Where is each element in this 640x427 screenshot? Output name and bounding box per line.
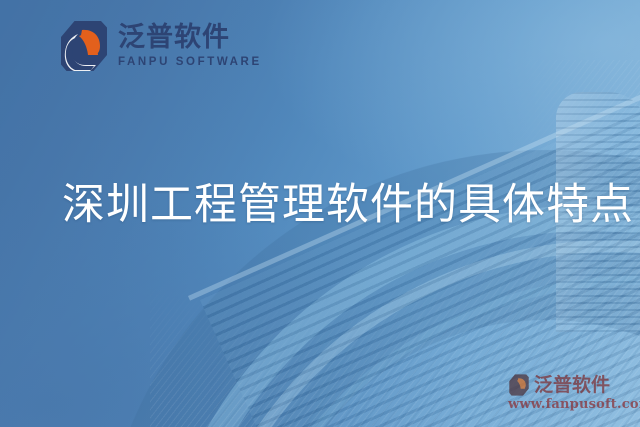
- promo-banner: 泛普软件 FANPU SOFTWARE 深圳工程管理软件的具体特点 泛普软件 w…: [0, 0, 640, 427]
- watermark-url: www.fanpusoft.com: [508, 398, 636, 411]
- watermark-brand-row: 泛普软件: [508, 374, 636, 396]
- watermark: 泛普软件 www.fanpusoft.com: [508, 374, 636, 411]
- brand-name-cn: 泛普软件: [118, 24, 262, 51]
- fanpu-hexagon-sail-logo-icon: [508, 374, 530, 396]
- watermark-brand-name: 泛普软件: [534, 376, 610, 395]
- brand-logo[interactable]: 泛普软件 FANPU SOFTWARE: [60, 20, 262, 72]
- fanpu-hexagon-sail-logo-icon: [60, 20, 108, 72]
- brand-name-en: FANPU SOFTWARE: [118, 57, 262, 69]
- page-title: 深圳工程管理软件的具体特点: [62, 170, 634, 232]
- brand-logo-text: 泛普软件 FANPU SOFTWARE: [118, 24, 262, 69]
